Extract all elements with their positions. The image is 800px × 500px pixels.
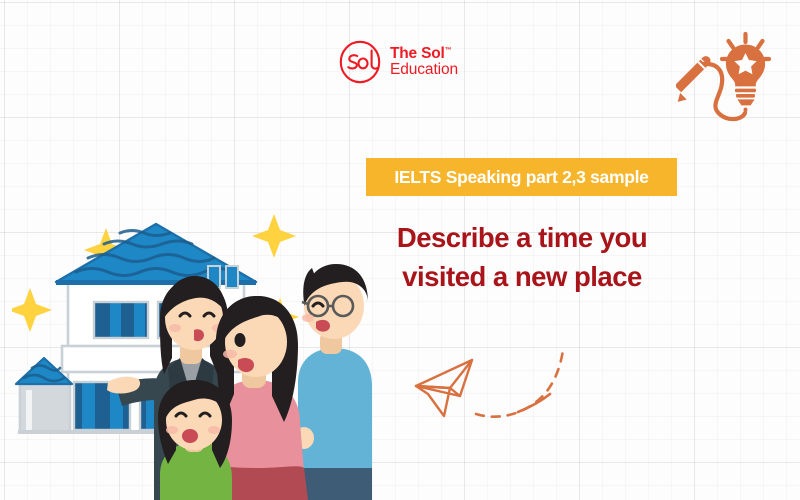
sol-circle-monogram-icon — [339, 40, 383, 84]
brand-logo: The Sol™ Education — [339, 40, 458, 84]
brand-line-1: The Sol™ — [390, 46, 458, 62]
mother-eye — [235, 333, 246, 347]
brand-line-2: Education — [390, 62, 458, 78]
headline-line-2: visited a new place — [366, 257, 678, 296]
paper-plane-swoosh-icon — [518, 394, 550, 412]
paper-plane-trail-icon — [476, 350, 563, 417]
trademark-symbol: ™ — [445, 47, 452, 54]
headline-line-1: Describe a time you — [366, 218, 678, 257]
banner-canvas: The Sol™ Education — [0, 0, 800, 500]
subject-badge-label: IELTS Speaking part 2,3 sample — [394, 167, 648, 188]
father-pants — [298, 468, 372, 500]
bulb-base-tip — [737, 99, 754, 105]
paper-plane-icon — [414, 344, 584, 426]
mother-mouth — [238, 358, 254, 372]
house-viewing-family-illustration — [12, 206, 372, 500]
child-mouth — [182, 429, 198, 443]
bulb-base-ring — [736, 94, 755, 98]
brand-line-1-text: The Sol — [390, 45, 445, 62]
house-window — [226, 266, 238, 288]
pencil-lightbulb-idea-icon — [676, 28, 776, 132]
figure-child — [158, 380, 232, 500]
brand-wordmark: The Sol™ Education — [390, 46, 458, 78]
sparkle-star — [252, 214, 296, 258]
bulb-base-ring — [735, 89, 756, 93]
sparkle-star — [12, 288, 52, 332]
subject-badge: IELTS Speaking part 2,3 sample — [366, 158, 677, 196]
headline-title: Describe a time you visited a new place — [366, 218, 678, 296]
figure-father — [294, 264, 372, 500]
father-mouth — [316, 320, 330, 332]
